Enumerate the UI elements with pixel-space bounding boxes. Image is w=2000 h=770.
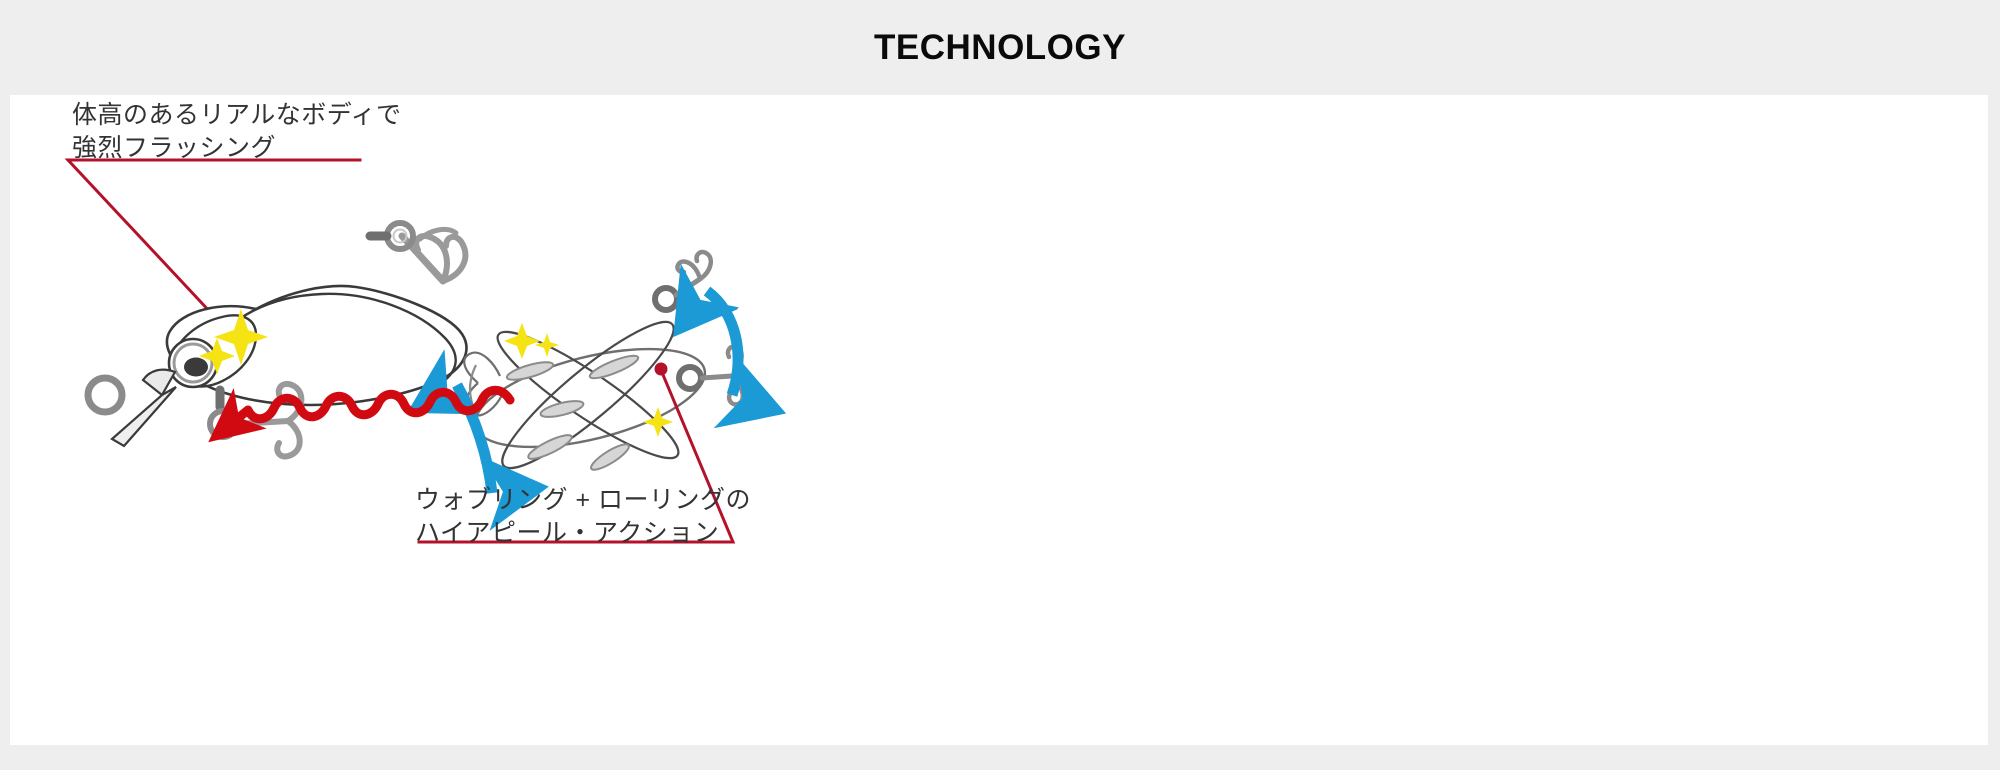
sparkle-icon [535, 333, 559, 357]
rear-lower-hook-shank [702, 376, 732, 378]
tail-hook-group [370, 223, 465, 281]
lure-eye-pupil [184, 358, 208, 377]
page-title: TECHNOLOGY [874, 28, 1126, 68]
page-header: TECHNOLOGY [0, 0, 2000, 95]
rear-upper-hook-point-a [677, 261, 700, 279]
belly-hook-point-down [277, 421, 299, 456]
callout-wobbling-rolling-line1: ウォブリング + ローリングの [415, 484, 751, 517]
callout-wobbling-rolling-line2: ハイアピール・アクション [415, 517, 751, 550]
callout-anchor-dot-bottom [655, 363, 668, 376]
technology-illustration [10, 95, 1988, 745]
technology-page: TECHNOLOGY [0, 0, 2000, 770]
callout-body-flash-line1: 体高のあるリアルなボディで [72, 99, 402, 132]
rear-upper-hook-group [655, 252, 711, 310]
sparkle-icon [504, 323, 540, 359]
content-panel: 体高のあるリアルなボディで 強烈フラッシング ウォブリング + ローリングの ハ… [10, 95, 1988, 745]
rear-upper-split-ring [655, 288, 677, 310]
callout-wobbling-rolling: ウォブリング + ローリングの ハイアピール・アクション [415, 484, 751, 549]
callout-body-flash-line2: 強烈フラッシング [72, 132, 402, 165]
nose-split-ring [88, 378, 122, 412]
callout-body-flash: 体高のあるリアルなボディで 強烈フラッシング [72, 99, 402, 164]
rear-upper-hook-shank [676, 279, 700, 295]
